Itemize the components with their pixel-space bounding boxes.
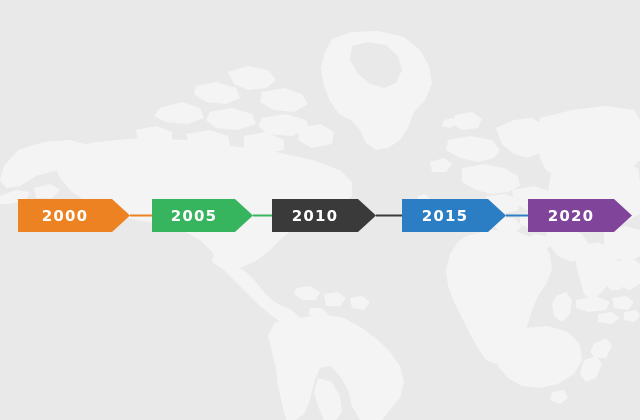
timeline-step-2010[interactable]: [272, 199, 376, 232]
infographic-canvas: 2000 2005 2010 2015 2020: [0, 0, 640, 420]
timeline-step-2005[interactable]: [152, 199, 253, 232]
timeline-step-2020[interactable]: [528, 199, 632, 232]
timeline-step-2015[interactable]: [402, 199, 506, 232]
timeline-chevron-chart: [0, 0, 640, 420]
timeline-step-2000[interactable]: [18, 199, 130, 232]
